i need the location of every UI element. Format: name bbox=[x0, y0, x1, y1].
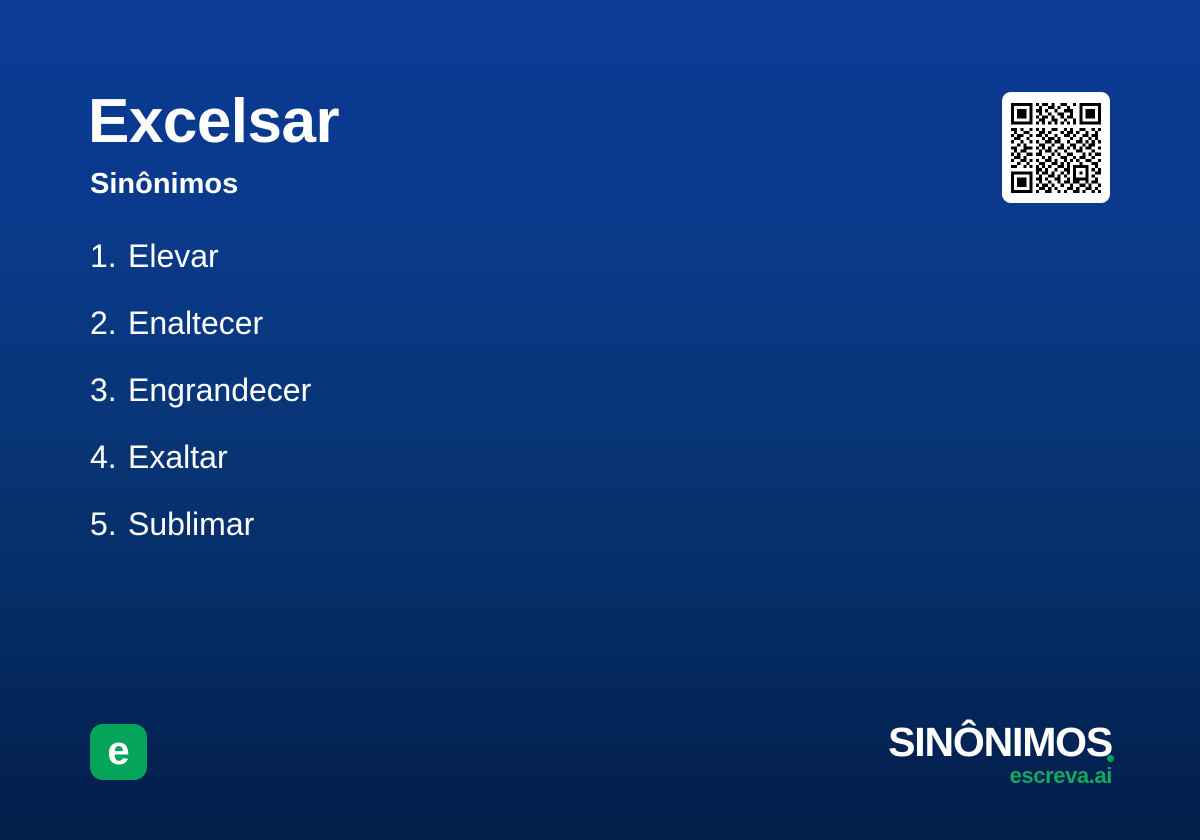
list-item-word: Elevar bbox=[128, 238, 219, 274]
list-item-word: Engrandecer bbox=[128, 372, 311, 408]
brand-badge-letter: e bbox=[107, 731, 129, 771]
list-item: 3.Engrandecer bbox=[90, 370, 870, 410]
list-item-number: 4. bbox=[90, 437, 128, 477]
list-item-word: Sublimar bbox=[128, 506, 254, 542]
list-item-number: 2. bbox=[90, 303, 128, 343]
list-item-number: 1. bbox=[90, 236, 128, 276]
qr-code-icon bbox=[1011, 103, 1101, 193]
synonym-card: Excelsar Sinônimos 1.Elevar 2.Enaltecer … bbox=[0, 0, 1200, 840]
list-item-number: 5. bbox=[90, 504, 128, 544]
page-title: Excelsar bbox=[88, 86, 339, 158]
qr-code-panel[interactable] bbox=[1002, 92, 1110, 203]
escreva-logo-badge[interactable]: e bbox=[90, 724, 147, 780]
list-item-word: Enaltecer bbox=[128, 305, 263, 341]
sinonimos-logo[interactable]: SINÔNIMOS escreva.ai bbox=[872, 722, 1112, 788]
list-item: 2.Enaltecer bbox=[90, 303, 870, 343]
list-item: 5.Sublimar bbox=[90, 504, 870, 544]
logo-subbrand: escreva.ai bbox=[872, 764, 1112, 788]
page-subtitle: Sinônimos bbox=[90, 166, 238, 202]
list-item-word: Exaltar bbox=[128, 439, 228, 475]
logo-wordmark: SINÔNIMOS bbox=[872, 722, 1112, 763]
list-item: 4.Exaltar bbox=[90, 437, 870, 477]
list-item: 1.Elevar bbox=[90, 236, 870, 276]
list-item-number: 3. bbox=[90, 370, 128, 410]
logo-dot-icon bbox=[1107, 755, 1114, 762]
synonyms-list: 1.Elevar 2.Enaltecer 3.Engrandecer 4.Exa… bbox=[90, 236, 870, 571]
